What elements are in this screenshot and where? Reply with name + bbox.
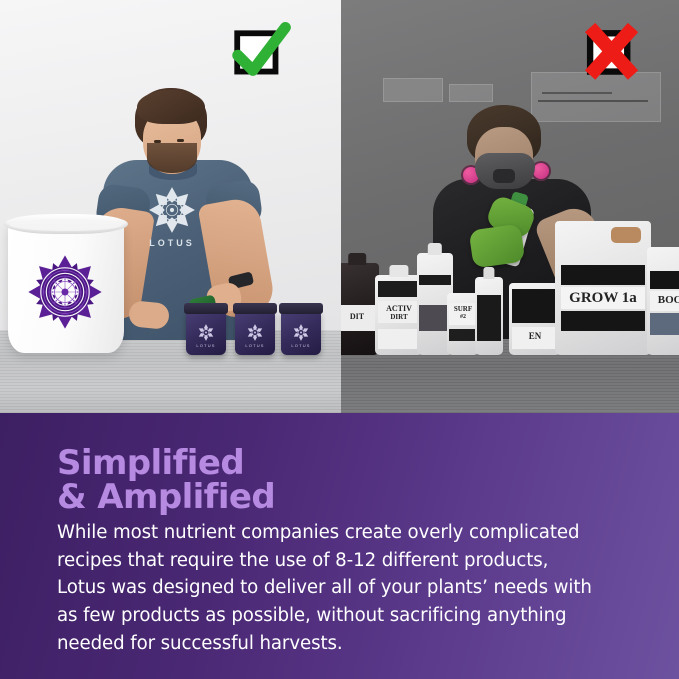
jar-lid — [184, 303, 228, 314]
bottle-label-text: ACTIV — [378, 304, 420, 313]
jar-wordmark: LOTUS — [281, 343, 321, 348]
green-check-badge — [232, 24, 290, 82]
bottle-neck — [389, 265, 408, 277]
boost-nutrient-jug: BOO — [647, 247, 679, 355]
lotus-jar: LOTUS — [235, 311, 275, 355]
chart-rule — [538, 100, 648, 102]
marketing-copy-panel: Simplified & Amplified While most nutrie… — [0, 413, 679, 679]
bottle-label — [477, 295, 502, 341]
bottle-neck — [348, 253, 366, 265]
jar-lid — [233, 303, 277, 314]
jar-lid — [279, 303, 323, 314]
bottle-label: DIT — [341, 305, 376, 331]
bucket-rim-inner — [10, 219, 122, 231]
glove-left — [469, 224, 526, 269]
jug-label: BOO — [650, 291, 679, 311]
nutrient-bottle: DIT — [341, 263, 379, 355]
product-comparison-infographic: LOTUS — [0, 0, 679, 679]
eye-right — [177, 139, 184, 142]
jar-wordmark: LOTUS — [235, 343, 275, 348]
lotus-mandala-icon — [146, 184, 198, 236]
bottle-label-subtext: DIRT — [378, 313, 420, 321]
jar-wordmark: LOTUS — [186, 343, 226, 348]
lotus-jar: LOTUS — [186, 311, 226, 355]
jug-handle — [611, 227, 641, 243]
jug-label-text: BOO — [650, 294, 679, 306]
bottle-label-stripe — [419, 275, 451, 285]
lotus-bucket — [8, 223, 124, 353]
bottle-label-subtext: #2 — [449, 314, 477, 320]
bottle-label-text: SURF — [449, 305, 477, 313]
bottle-label-text: DIT — [341, 312, 376, 321]
tshirt-brand-wordmark: LOTUS — [149, 238, 195, 248]
beard — [147, 143, 197, 173]
red-x-badge — [582, 24, 640, 82]
jar-lotus-mandala-icon — [246, 323, 265, 342]
grow-nutrient-jug: GROW 1a — [555, 221, 651, 355]
jug-label-text: GROW 1a — [561, 290, 645, 307]
tshirt-lotus-logo: LOTUS — [138, 184, 206, 258]
jug-label-top — [650, 271, 679, 289]
jug-label-top — [561, 265, 645, 285]
panel-body-text: While most nutrient companies create ove… — [57, 519, 593, 657]
lotus-jar: LOTUS — [281, 311, 321, 355]
nutrient-bottle — [475, 277, 503, 355]
jug-label-text: EN — [512, 331, 558, 341]
nutrient-jug: EN — [509, 283, 561, 355]
bottle-label-stripe — [449, 329, 477, 341]
wall-paper — [383, 78, 443, 102]
bottle-label: ACTIV DIRT — [378, 301, 420, 323]
jar-lotus-mandala-icon — [197, 323, 216, 342]
bottle-label-top — [378, 281, 420, 297]
bottle-label: SURF #2 — [449, 303, 477, 325]
jug-label-bottom — [561, 311, 645, 331]
panel-heading: Simplified & Amplified — [57, 446, 275, 514]
jug-label — [512, 289, 558, 323]
jug-label: GROW 1a — [561, 287, 645, 309]
bottle-neck — [483, 267, 494, 279]
hair-front — [137, 90, 205, 124]
jug-label-bottom: EN — [512, 327, 558, 349]
bottle-neck — [428, 243, 442, 255]
chart-title-line — [542, 92, 612, 94]
nutrient-bottle: ACTIV DIRT — [375, 275, 423, 355]
bucket-lotus-mandala-icon — [26, 253, 104, 331]
jar-lotus-mandala-icon — [292, 323, 311, 342]
wall-paper — [449, 84, 493, 102]
respirator-vent — [493, 169, 515, 183]
comparison-photo-strip: LOTUS — [0, 0, 679, 413]
jug-label-bottom — [650, 313, 679, 335]
bottle-label-bottom — [378, 329, 420, 349]
